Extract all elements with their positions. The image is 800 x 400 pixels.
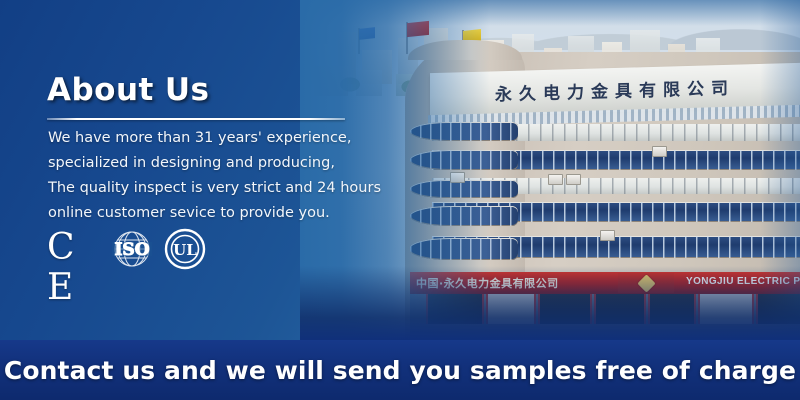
- title-divider: [47, 118, 345, 120]
- body-line: specialized in designing and producing,: [48, 153, 358, 173]
- page-title-word-1: About: [47, 72, 154, 108]
- about-us-banner: 永久电力金具有限公司 中国·永久电力金具有限公司 YONGJIU ELECTRI…: [0, 0, 800, 400]
- page-title-word-2: Us: [165, 72, 210, 108]
- body-line: online customer sevice to provide you.: [48, 203, 358, 223]
- cta-banner: Contact us and we will send you samples …: [0, 340, 800, 400]
- ce-mark-label: C E: [47, 227, 86, 308]
- body-line: The quality inspect is very strict and 2…: [48, 178, 358, 198]
- body-line: We have more than 31 years' experience,: [48, 128, 358, 148]
- iso-mark-icon: ISO: [110, 229, 154, 269]
- svg-text:ISO: ISO: [114, 240, 149, 260]
- about-body-text: We have more than 31 years' experience, …: [48, 128, 358, 228]
- svg-text:UL: UL: [173, 241, 197, 259]
- ul-mark-icon: UL: [164, 228, 206, 270]
- page-title: AboutUs: [47, 72, 210, 108]
- ce-mark-icon: C E: [47, 228, 86, 308]
- cta-text: Contact us and we will send you samples …: [4, 356, 796, 385]
